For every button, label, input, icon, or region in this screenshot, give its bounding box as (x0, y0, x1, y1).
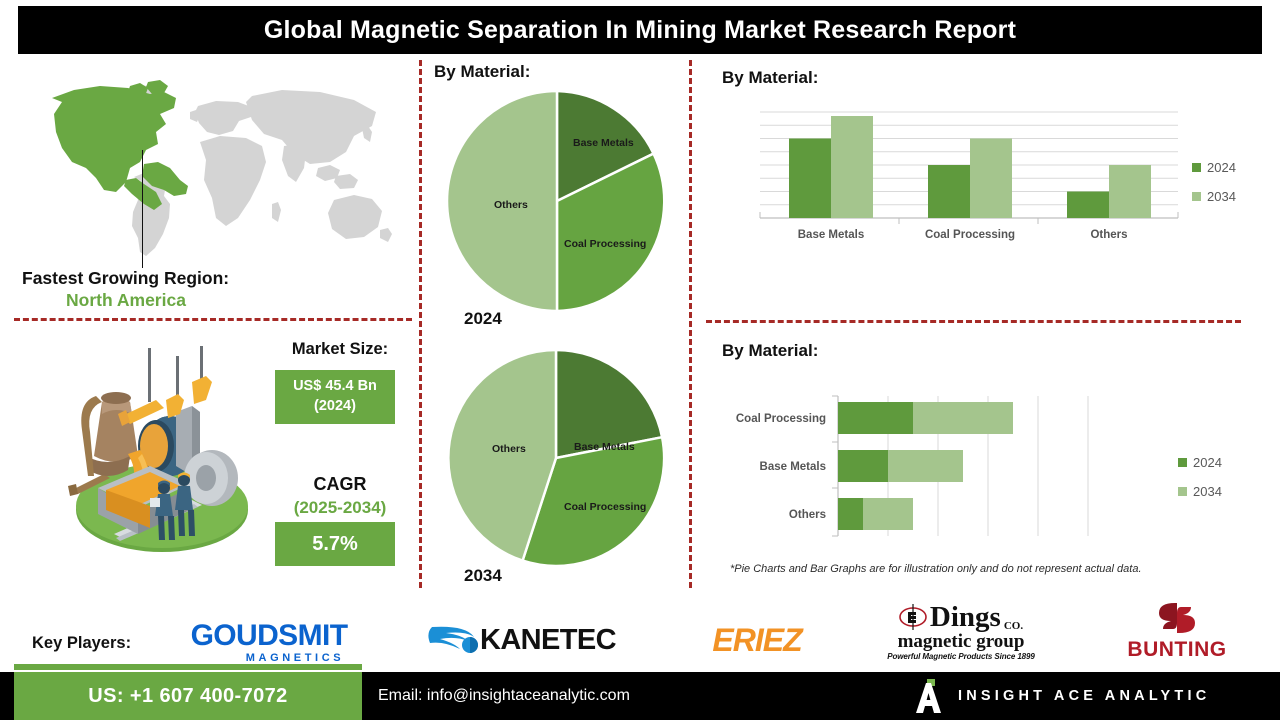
bunting-mark-icon (1151, 601, 1203, 635)
pie-2034-slice-label-others: Others (492, 443, 526, 455)
map-leader-line (142, 150, 143, 268)
fastest-growing-region-label: Fastest Growing Region: (22, 268, 229, 289)
bar-chart-legend: 2024 2034 (1178, 455, 1222, 513)
cagr-value: 5.7% (312, 533, 358, 556)
logo-dings-tagline: Powerful Magnetic Products Since 1899 (887, 652, 1034, 661)
pie-2034-slice-label-coal-processing: Coal Processing (564, 501, 646, 513)
logo-dings-co: CO. (1004, 620, 1023, 632)
column-chart-legend: 2024 2034 (1192, 160, 1236, 218)
dings-magnet-icon (899, 603, 927, 631)
pie-chart-2034: Base Metals Coal Processing Others (446, 348, 666, 568)
header-bar: Global Magnetic Separation In Mining Mar… (18, 6, 1262, 54)
legend-item-2024: 2024 (1192, 160, 1236, 175)
legend-item-2034: 2034 (1178, 484, 1222, 499)
pie-2024-slice-label-base-metals: Base Metals (573, 137, 634, 149)
market-size-label: Market Size: (280, 340, 400, 359)
logo-dings: Dings CO. magnetic group Powerful Magnet… (866, 598, 1056, 666)
bar-cat-coal-processing: Coal Processing (736, 413, 826, 425)
world-map (22, 72, 410, 257)
column-cat-coal-processing: Coal Processing (925, 229, 1015, 241)
legend-item-2034: 2034 (1192, 189, 1236, 204)
logo-dings-group: magnetic group (898, 632, 1025, 653)
bar-chart-title: By Material: (722, 341, 818, 361)
key-players-label: Key Players: (32, 634, 131, 653)
divider-horizontal-right (706, 320, 1241, 323)
cagr-label: CAGR (280, 474, 400, 495)
divider-vertical-right (689, 60, 692, 588)
footer-phone-block: US: +1 607 400-7072 (14, 672, 362, 720)
legend-label-2034: 2034 (1193, 484, 1222, 499)
mining-illustration (58, 338, 263, 563)
logo-kanetec: KANETEC (408, 620, 634, 660)
footer-green-strip (14, 664, 362, 670)
bar-cat-base-metals: Base Metals (760, 461, 826, 473)
legend-item-2024: 2024 (1178, 455, 1222, 470)
fastest-growing-region-value: North America (66, 290, 186, 311)
kanetec-swoosh-icon (426, 623, 482, 657)
chart-disclaimer: *Pie Charts and Bar Graphs are for illus… (730, 563, 1142, 575)
divider-vertical-left (419, 60, 422, 588)
stacked-bar-chart: Coal Processing Base Metals Others (712, 388, 1192, 553)
column-cat-base-metals: Base Metals (798, 229, 864, 241)
market-size-value: US$ 45.4 Bn (293, 377, 377, 397)
legend-swatch-2034 (1178, 487, 1187, 496)
legend-label-2034: 2034 (1207, 189, 1236, 204)
legend-swatch-2034 (1192, 192, 1201, 201)
legend-label-2024: 2024 (1207, 160, 1236, 175)
footer-email[interactable]: Email: info@insightaceanalytic.com (378, 672, 630, 720)
cagr-period: (2025-2034) (275, 498, 405, 518)
bar-cat-others: Others (789, 509, 826, 521)
pie-2024-title: By Material: (434, 62, 530, 82)
column-chart-title: By Material: (722, 68, 818, 88)
logo-eriez-text: ERIEZ (712, 622, 801, 659)
logo-bunting-text: BUNTING (1127, 638, 1226, 662)
pie-2024-slice-label-others: Others (494, 199, 528, 211)
infographic-page: Global Magnetic Separation In Mining Mar… (0, 0, 1280, 720)
pie-2024-year: 2024 (464, 309, 502, 329)
logo-bunting: BUNTING (1102, 598, 1252, 664)
page-title: Global Magnetic Separation In Mining Mar… (264, 16, 1016, 45)
insightace-logo-icon (914, 679, 942, 713)
pie-2034-year: 2034 (464, 566, 502, 586)
logo-goudsmit: GOUDSMIT MAGNETICS (164, 620, 374, 664)
logo-goudsmit-text: GOUDSMIT (191, 621, 348, 651)
legend-label-2024: 2024 (1193, 455, 1222, 470)
footer-brand: INSIGHT ACE ANALYTIC (914, 672, 1210, 720)
footer-phone[interactable]: US: +1 607 400-7072 (88, 685, 287, 708)
market-size-badge: US$ 45.4 Bn (2024) (275, 370, 395, 424)
legend-swatch-2024 (1178, 458, 1187, 467)
pie-2034-slice-label-base-metals: Base Metals (574, 441, 635, 453)
logo-kanetec-text: KANETEC (480, 624, 616, 657)
footer-brand-name: INSIGHT ACE ANALYTIC (958, 688, 1210, 704)
logo-dings-text: Dings (930, 603, 1001, 632)
logo-eriez: ERIEZ (682, 620, 832, 660)
pie-chart-2024: Base Metals Coal Processing Others (446, 90, 668, 312)
legend-swatch-2024 (1192, 163, 1201, 172)
cagr-badge: 5.7% (275, 522, 395, 566)
column-chart: Base Metals Coal Processing Others (742, 100, 1202, 250)
pie-2024-slice-label-coal-processing: Coal Processing (564, 238, 646, 250)
logo-goudsmit-subtext: MAGNETICS (246, 652, 344, 664)
divider-horizontal-left (14, 318, 412, 321)
market-size-year: (2024) (314, 397, 356, 417)
column-cat-others: Others (1090, 229, 1127, 241)
